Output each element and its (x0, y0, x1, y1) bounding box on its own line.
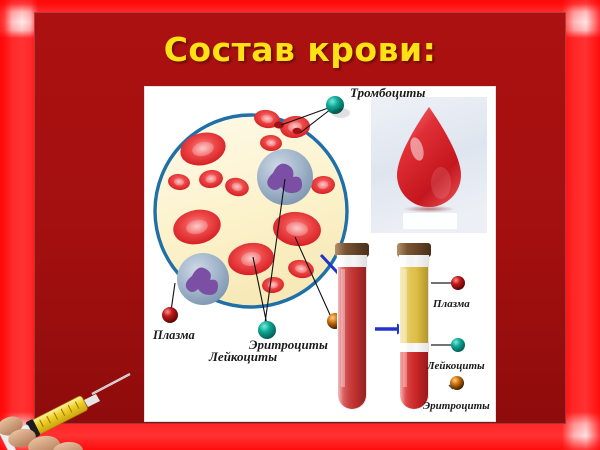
label-plasma-text: Плазма (152, 328, 195, 342)
diagram-card: Тромбоциты Плазма Лейкоциты Эритроциты (144, 86, 496, 422)
label-plasma-right: Плазма (431, 276, 470, 310)
test-tube-centrifuged (397, 243, 431, 410)
syringe-decoration (0, 372, 156, 450)
label-leukocytes-right: Лейкоциты (426, 338, 485, 372)
label-erythrocytes-right: Эритроциты (423, 376, 490, 412)
test-tube-whole-blood (335, 243, 369, 410)
label-platelets-text: Тромбоциты (350, 87, 425, 100)
label-plasma: Плазма (152, 307, 195, 342)
label-erythrocytes-text: Эритроциты (249, 337, 328, 352)
label-leukocytes-right-text: Лейкоциты (426, 360, 485, 372)
slide-root: Состав крови: (0, 0, 600, 450)
blood-drop-panel (371, 97, 487, 233)
page-title: Состав крови: (0, 30, 600, 69)
blood-smear-circle (155, 108, 347, 307)
label-plasma-right-text: Плазма (432, 298, 470, 310)
label-erythrocytes-right-text: Эритроциты (423, 400, 490, 412)
